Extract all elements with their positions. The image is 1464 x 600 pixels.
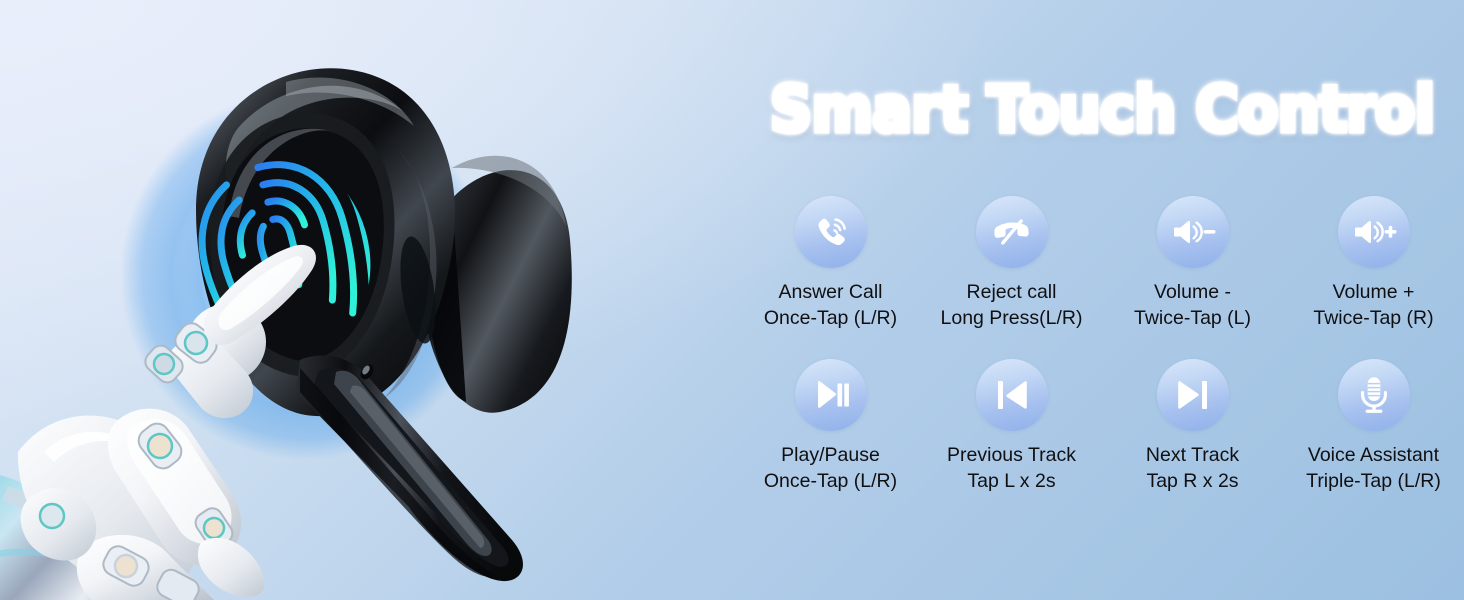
control-voice-assistant[interactable]: Voice Assistant Triple-Tap (L/R) bbox=[1283, 359, 1464, 494]
control-gesture: Tap R x 2s bbox=[1146, 469, 1239, 495]
volume-up-icon[interactable] bbox=[1338, 196, 1410, 268]
control-gesture: Triple-Tap (L/R) bbox=[1306, 469, 1441, 495]
control-volume-down[interactable]: Volume - Twice-Tap (L) bbox=[1102, 196, 1283, 331]
control-volume-up[interactable]: Volume + Twice-Tap (R) bbox=[1283, 196, 1464, 331]
control-gesture: Twice-Tap (R) bbox=[1313, 306, 1433, 332]
control-reject-call[interactable]: Reject call Long Press(L/R) bbox=[921, 196, 1102, 331]
earbud-touch-illustration bbox=[0, 0, 760, 600]
control-gesture: Once-Tap (L/R) bbox=[764, 469, 897, 495]
play-pause-icon[interactable] bbox=[795, 359, 867, 431]
phone-answer-icon[interactable] bbox=[795, 196, 867, 268]
page-title: Smart Touch Control bbox=[770, 78, 1434, 141]
microphone-icon[interactable] bbox=[1338, 359, 1410, 431]
page-title-wrap: Smart Touch Control bbox=[740, 78, 1464, 141]
control-label: Play/Pause bbox=[781, 444, 880, 466]
control-previous-track[interactable]: Previous Track Tap L x 2s bbox=[921, 359, 1102, 494]
phone-reject-icon[interactable] bbox=[976, 196, 1048, 268]
control-play-pause[interactable]: Play/Pause Once-Tap (L/R) bbox=[740, 359, 921, 494]
control-caption: Voice Assistant Triple-Tap (L/R) bbox=[1306, 443, 1441, 494]
control-label: Volume + bbox=[1333, 281, 1415, 303]
promo-banner: Smart Touch Control Answer Call bbox=[0, 0, 1464, 600]
controls-row-2: Play/Pause Once-Tap (L/R) Previous Track… bbox=[740, 359, 1464, 494]
controls-panel: Smart Touch Control Answer Call bbox=[740, 0, 1464, 600]
controls-row-1: Answer Call Once-Tap (L/R) bbox=[740, 196, 1464, 331]
previous-track-icon[interactable] bbox=[976, 359, 1048, 431]
next-track-icon[interactable] bbox=[1157, 359, 1229, 431]
volume-down-icon[interactable] bbox=[1157, 196, 1229, 268]
control-gesture: Long Press(L/R) bbox=[941, 306, 1083, 332]
control-label: Volume - bbox=[1154, 281, 1231, 303]
control-caption: Previous Track Tap L x 2s bbox=[947, 443, 1076, 494]
control-label: Next Track bbox=[1146, 444, 1239, 466]
control-caption: Reject call Long Press(L/R) bbox=[941, 280, 1083, 331]
control-label: Reject call bbox=[967, 281, 1057, 303]
control-gesture: Tap L x 2s bbox=[947, 469, 1076, 495]
control-caption: Answer Call Once-Tap (L/R) bbox=[764, 280, 897, 331]
control-gesture: Once-Tap (L/R) bbox=[764, 306, 897, 332]
control-caption: Play/Pause Once-Tap (L/R) bbox=[764, 443, 897, 494]
control-caption: Next Track Tap R x 2s bbox=[1146, 443, 1239, 494]
control-caption: Volume - Twice-Tap (L) bbox=[1134, 280, 1251, 331]
control-caption: Volume + Twice-Tap (R) bbox=[1313, 280, 1433, 331]
control-gesture: Twice-Tap (L) bbox=[1134, 306, 1251, 332]
control-label: Answer Call bbox=[778, 281, 882, 303]
controls-grid: Answer Call Once-Tap (L/R) bbox=[740, 196, 1464, 495]
control-next-track[interactable]: Next Track Tap R x 2s bbox=[1102, 359, 1283, 494]
control-answer-call[interactable]: Answer Call Once-Tap (L/R) bbox=[740, 196, 921, 331]
control-label: Voice Assistant bbox=[1308, 444, 1439, 466]
control-label: Previous Track bbox=[947, 444, 1076, 466]
